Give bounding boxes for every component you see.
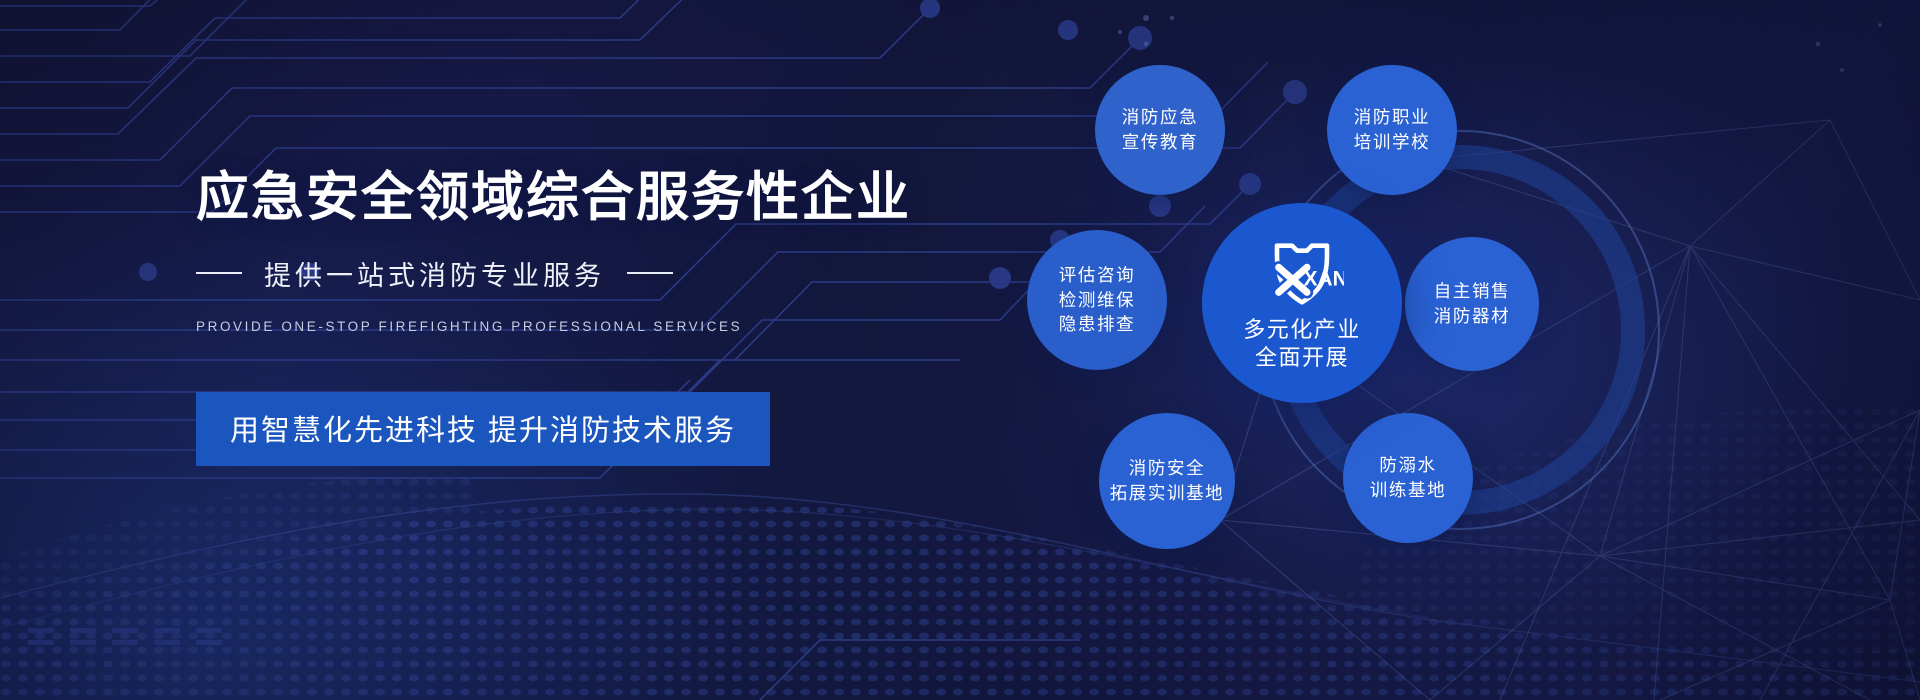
hero-text-block: 应急安全领域综合服务性企业 提供一站式消防专业服务 PROVIDE ONE-ST… bbox=[196, 170, 956, 466]
core-label-line2: 全面开展 bbox=[1255, 344, 1349, 372]
diagram-node-anti-drowning[interactable]: 防溺水 训练基地 bbox=[1343, 413, 1473, 543]
diagram-node-equipment-sales[interactable]: 自主销售 消防器材 bbox=[1405, 237, 1539, 371]
cta-banner-label: 用智慧化先进科技 提升消防技术服务 bbox=[230, 415, 736, 447]
subtitle-row: 提供一站式消防专业服务 bbox=[196, 254, 956, 293]
node-label-line1: 自主销售 bbox=[1434, 279, 1510, 304]
english-tagline: PROVIDE ONE-STOP FIREFIGHTING PROFESSION… bbox=[196, 319, 956, 334]
cta-banner[interactable]: 用智慧化先进科技 提升消防技术服务 bbox=[196, 392, 770, 466]
node-label-line2: 培训学校 bbox=[1354, 130, 1430, 155]
page-subtitle: 提供一站式消防专业服务 bbox=[264, 254, 605, 293]
svg-text:XAN: XAN bbox=[1304, 268, 1344, 291]
diagram-core-node[interactable]: XAN 多元化产业 全面开展 bbox=[1202, 203, 1402, 403]
node-label-line1: 消防应急 bbox=[1122, 105, 1198, 130]
node-label-line1: 消防职业 bbox=[1354, 105, 1430, 130]
node-label-line1: 防溺水 bbox=[1379, 453, 1436, 478]
node-label-line1: 消防安全 bbox=[1129, 456, 1205, 481]
hero-banner: 应急安全领域综合服务性企业 提供一站式消防专业服务 PROVIDE ONE-ST… bbox=[0, 0, 1920, 700]
core-label-line1: 多元化产业 bbox=[1243, 316, 1361, 344]
diagram-node-emergency-education[interactable]: 消防应急 宣传教育 bbox=[1095, 65, 1225, 195]
page-title: 应急安全领域综合服务性企业 bbox=[196, 170, 956, 226]
divider-left bbox=[196, 272, 242, 274]
node-label-line1: 评估咨询 bbox=[1059, 263, 1135, 288]
diagram-node-vocational-school[interactable]: 消防职业 培训学校 bbox=[1327, 65, 1457, 195]
node-label-line2: 训练基地 bbox=[1370, 478, 1446, 503]
node-label-line2: 检测维保 bbox=[1059, 288, 1135, 313]
node-label-line2: 消防器材 bbox=[1434, 304, 1510, 329]
shield-x-logo-icon: XAN bbox=[1260, 234, 1344, 314]
node-label-line2: 宣传教育 bbox=[1122, 130, 1198, 155]
node-label-line2: 拓展实训基地 bbox=[1110, 481, 1225, 506]
services-circle-diagram: 消防应急 宣传教育 消防职业 培训学校 评估咨询 检测维保 隐患排查 自主销售 … bbox=[1095, 55, 1815, 655]
divider-right bbox=[627, 272, 673, 274]
diagram-node-training-base[interactable]: 消防安全 拓展实训基地 bbox=[1099, 413, 1235, 549]
diagram-node-assessment[interactable]: 评估咨询 检测维保 隐患排查 bbox=[1027, 230, 1167, 370]
node-label-line3: 隐患排查 bbox=[1059, 312, 1135, 337]
